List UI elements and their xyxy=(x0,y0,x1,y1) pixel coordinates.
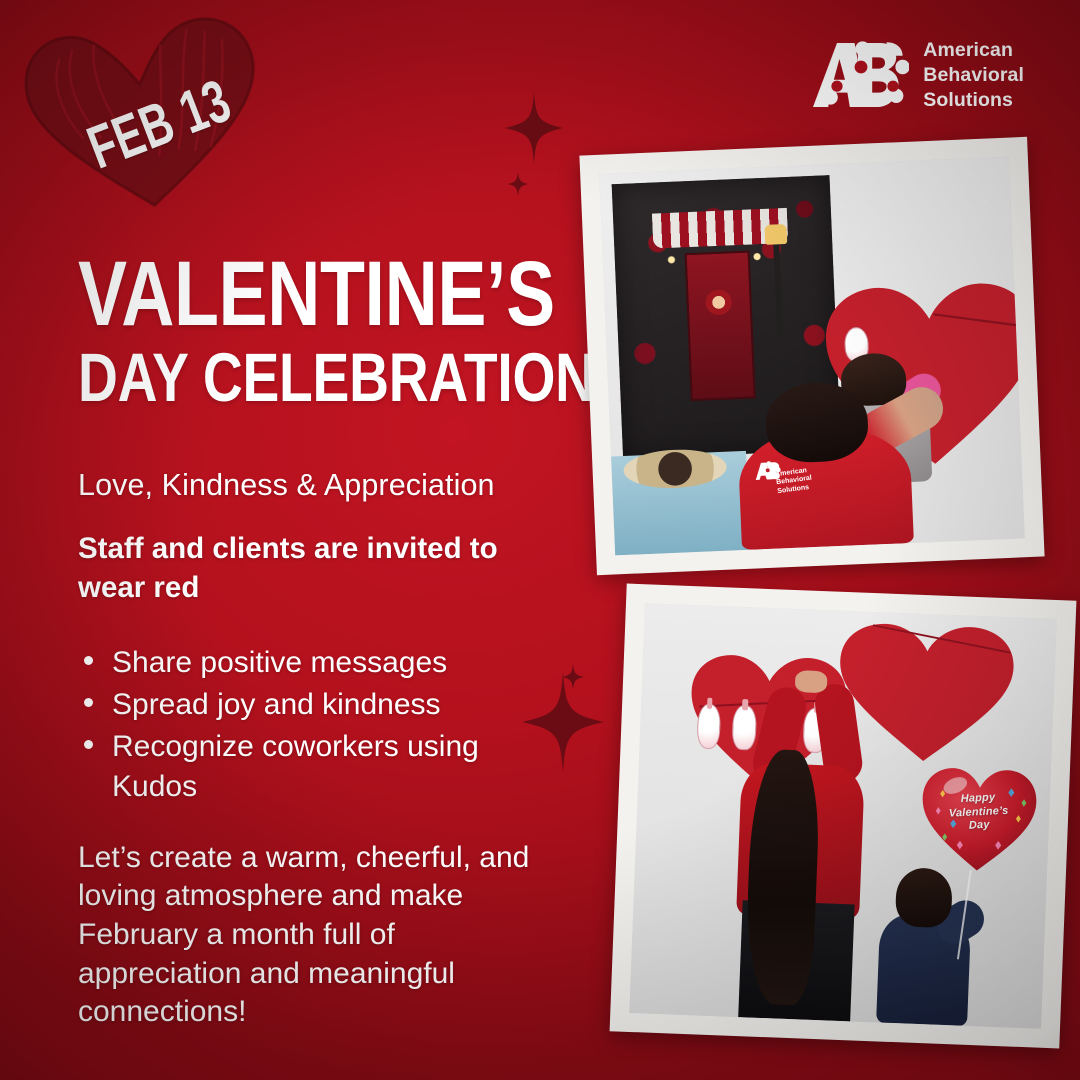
bullet-icon xyxy=(84,698,93,707)
abs-logo-line-1: American xyxy=(923,38,1024,63)
list-item-label: Share positive messages xyxy=(112,646,447,679)
photo-woman-hanging-hearts-with-child-balloon: Happy Valentine’s Day xyxy=(629,603,1056,1029)
bullet-icon xyxy=(84,740,93,749)
date-badge-label: FEB 13 xyxy=(78,66,239,183)
list-item: Recognize coworkers using Kudos xyxy=(78,727,556,807)
page-title-line-2: DAY CELEBRATION xyxy=(78,343,460,412)
valentines-day-poster: FEB 13 xyxy=(0,0,1080,1080)
photo-frame-bottom: Happy Valentine’s Day xyxy=(610,584,1077,1049)
closing-paragraph: Let’s create a warm, cheerful, and lovin… xyxy=(78,839,548,1032)
list-item-label: Recognize coworkers using Kudos xyxy=(112,730,479,803)
abs-logo: American Behavioral Solutions xyxy=(813,38,1024,113)
abs-logo-line-2: Behavioral xyxy=(923,63,1024,88)
page-title-line-1: VALENTINE’S xyxy=(78,252,460,337)
abs-puzzle-logo-icon xyxy=(813,38,909,112)
list-item: Share positive messages xyxy=(78,643,556,683)
woman-hands xyxy=(795,670,827,694)
activity-list: Share positive messages Spread joy and k… xyxy=(78,643,556,807)
list-item-label: Spread joy and kindness xyxy=(112,688,441,721)
list-item: Spread joy and kindness xyxy=(78,685,556,725)
abs-logo-wordmark: American Behavioral Solutions xyxy=(923,38,1024,113)
photo-frame-top: American Behavioral Solutions xyxy=(579,137,1044,575)
shirt-wordmark: American Behavioral Solutions xyxy=(775,467,814,497)
abs-logo-line-3: Solutions xyxy=(923,88,1024,113)
staff-member-figure: American Behavioral Solutions xyxy=(719,378,931,551)
date-badge: FEB 13 xyxy=(6,0,280,230)
heart-balloon-icon xyxy=(915,753,1043,881)
woman-figure xyxy=(724,672,877,1022)
sparkle-icon xyxy=(505,92,563,164)
photo-staff-and-child-pinning-heart: American Behavioral Solutions xyxy=(599,157,1025,556)
dress-code-note: Staff and clients are invited to wear re… xyxy=(78,529,538,607)
staff-hair xyxy=(764,380,870,463)
diamond-sparkle-icon xyxy=(508,172,528,196)
poster-content: VALENTINE’S DAY CELEBRATION Love, Kindne… xyxy=(78,252,556,1032)
tagline: Love, Kindness & Appreciation xyxy=(78,468,556,503)
bullet-icon xyxy=(84,656,93,665)
red-door xyxy=(684,250,755,401)
diamond-sparkle-icon xyxy=(562,664,584,690)
